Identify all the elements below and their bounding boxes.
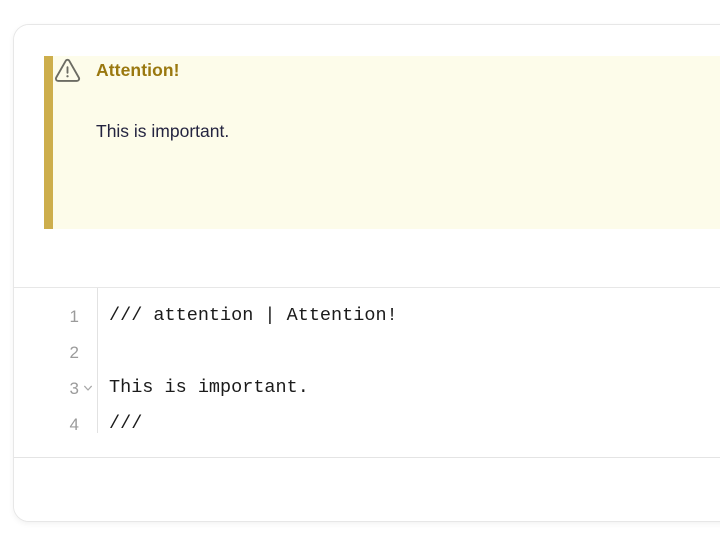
fold-slot xyxy=(79,406,97,442)
warning-triangle-icon xyxy=(53,56,82,85)
code-line-row[interactable]: 1 /// attention | Attention! xyxy=(14,298,720,334)
line-gutter: 2 xyxy=(14,334,79,370)
fold-slot xyxy=(79,334,97,370)
fold-slot[interactable] xyxy=(79,370,97,406)
line-number: 1 xyxy=(70,308,79,325)
card-footer xyxy=(14,458,720,521)
callout-title: Attention! xyxy=(96,62,180,80)
code-line-text[interactable]: This is important. xyxy=(97,379,309,398)
example-card: Attention! This is important. 1 /// atte… xyxy=(13,24,720,522)
line-number: 4 xyxy=(70,416,79,433)
page-root: Attention! This is important. 1 /// atte… xyxy=(0,0,720,544)
code-line-row[interactable]: 4 /// xyxy=(14,406,720,442)
line-gutter: 4 xyxy=(14,406,79,442)
line-gutter: 1 xyxy=(14,298,79,334)
line-number: 3 xyxy=(70,380,79,397)
preview-pane: Attention! This is important. xyxy=(14,25,720,288)
line-number: 2 xyxy=(70,344,79,361)
code-editor-pane[interactable]: 1 /// attention | Attention! 2 3 xyxy=(14,288,720,458)
callout-body: This is important. xyxy=(96,121,229,142)
code-lines: 1 /// attention | Attention! 2 3 xyxy=(14,298,720,442)
code-line-text[interactable]: /// xyxy=(97,415,142,434)
callout-title-row: Attention! xyxy=(53,56,180,85)
code-line-row[interactable]: 2 xyxy=(14,334,720,370)
fold-slot xyxy=(79,298,97,334)
code-line-text[interactable]: /// attention | Attention! xyxy=(97,307,398,326)
code-line-row[interactable]: 3 This is important. xyxy=(14,370,720,406)
chevron-down-icon[interactable] xyxy=(83,383,93,393)
line-gutter: 3 xyxy=(14,370,79,406)
